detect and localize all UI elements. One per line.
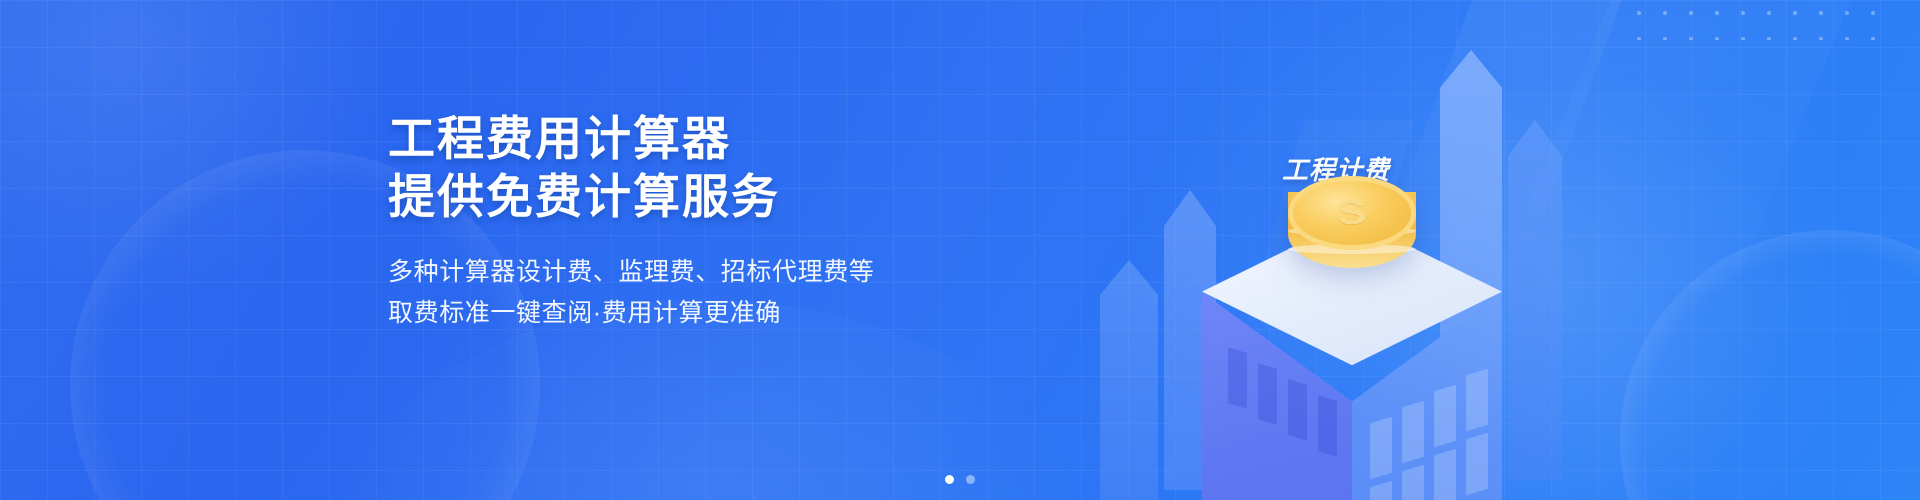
building-window (1466, 369, 1488, 432)
building-window (1288, 379, 1307, 441)
hero-copy: 工程费用计算器 提供免费计算服务 多种计算器设计费、监理费、招标代理费等 取费标… (388, 110, 1008, 334)
coin-currency-symbol: S (1286, 182, 1418, 245)
building-window (1370, 417, 1392, 480)
building-window (1402, 401, 1424, 464)
tower-bar-icon (1508, 120, 1562, 480)
hero-subtitle: 多种计算器设计费、监理费、招标代理费等 取费标准一键查阅·费用计算更准确 (388, 252, 1008, 334)
hero-banner: 工程费用计算器 提供免费计算服务 多种计算器设计费、监理费、招标代理费等 取费标… (0, 0, 1920, 500)
coin-stack-icon: S (1288, 176, 1416, 296)
subtitle-line-1: 多种计算器设计费、监理费、招标代理费等 (388, 252, 1008, 293)
carousel-dot-1[interactable] (945, 475, 954, 484)
hero-headline: 工程费用计算器 提供免费计算服务 (388, 110, 1008, 226)
tower-bar-icon (1100, 260, 1158, 500)
building-window (1466, 433, 1488, 496)
building-window (1318, 395, 1337, 457)
background-ring-right (1620, 230, 1920, 500)
background-glow-top-left (0, 0, 410, 330)
carousel-dot-2[interactable] (966, 475, 975, 484)
background-dot-grid (1626, 0, 1894, 40)
headline-line-1: 工程费用计算器 (388, 110, 1008, 168)
headline-line-2: 提供免费计算服务 (388, 168, 1008, 226)
carousel-dots[interactable] (0, 475, 1920, 484)
building-window (1228, 347, 1247, 409)
building-window (1434, 385, 1456, 448)
subtitle-line-2: 取费标准一键查阅·费用计算更准确 (388, 293, 1008, 334)
hero-illustration: 工程计费 S (1140, 20, 1610, 500)
building-window (1258, 363, 1277, 425)
